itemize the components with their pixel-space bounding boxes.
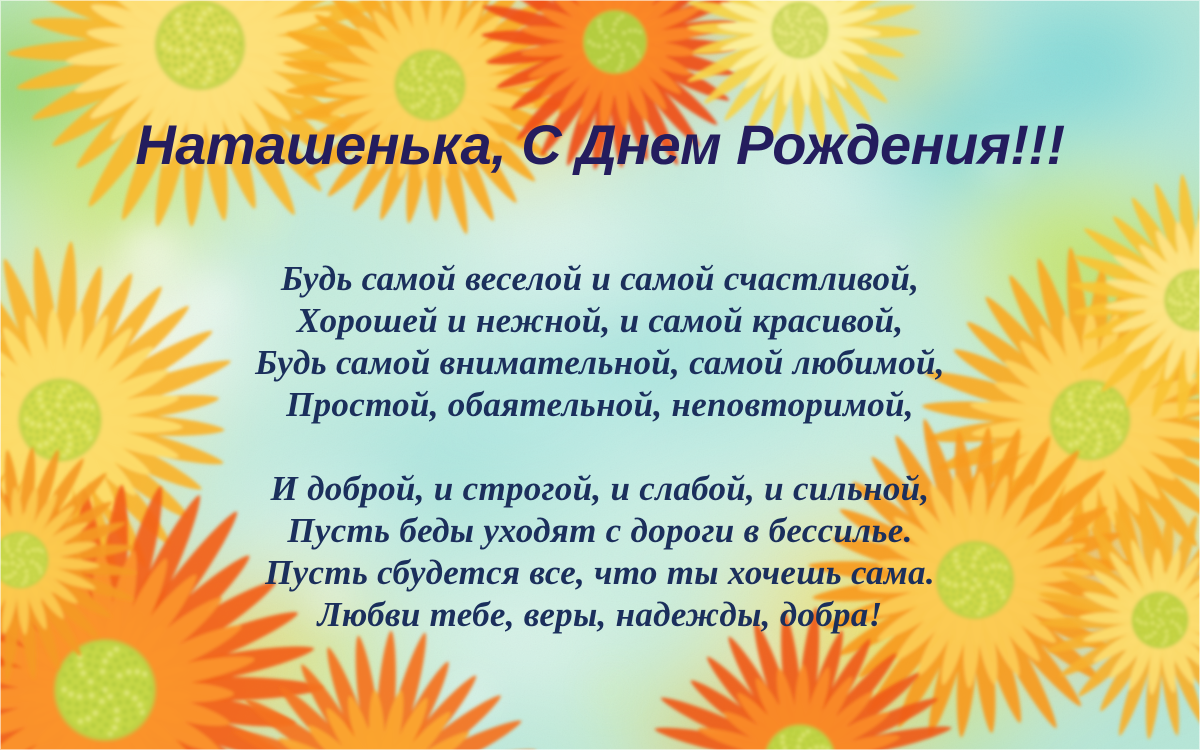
poem-line: Простой, обаятельной, неповторимой, <box>0 384 1200 426</box>
birthday-greeting-card: Наташенька, С Днем Рождения!!! Будь само… <box>0 0 1200 750</box>
poem-line: Пусть сбудется все, что ты хочешь сама. <box>0 552 1200 594</box>
greeting-title: Наташенька, С Днем Рождения!!! <box>0 117 1200 173</box>
poem-line: Пусть беды уходят с дороги в бессилье. <box>0 510 1200 552</box>
poem-line: Любви тебе, веры, надежды, добра! <box>0 594 1200 636</box>
card-text-content: Наташенька, С Днем Рождения!!! Будь само… <box>0 0 1200 750</box>
poem-line: И доброй, и строгой, и слабой, и сильной… <box>0 468 1200 510</box>
poem-line: Хорошей и нежной, и самой красивой, <box>0 300 1200 342</box>
poem-line: Будь самой внимательной, самой любимой, <box>0 342 1200 384</box>
poem-line: Будь самой веселой и самой счастливой, <box>0 258 1200 300</box>
poem-block: Будь самой веселой и самой счастливой,Хо… <box>0 258 1200 636</box>
